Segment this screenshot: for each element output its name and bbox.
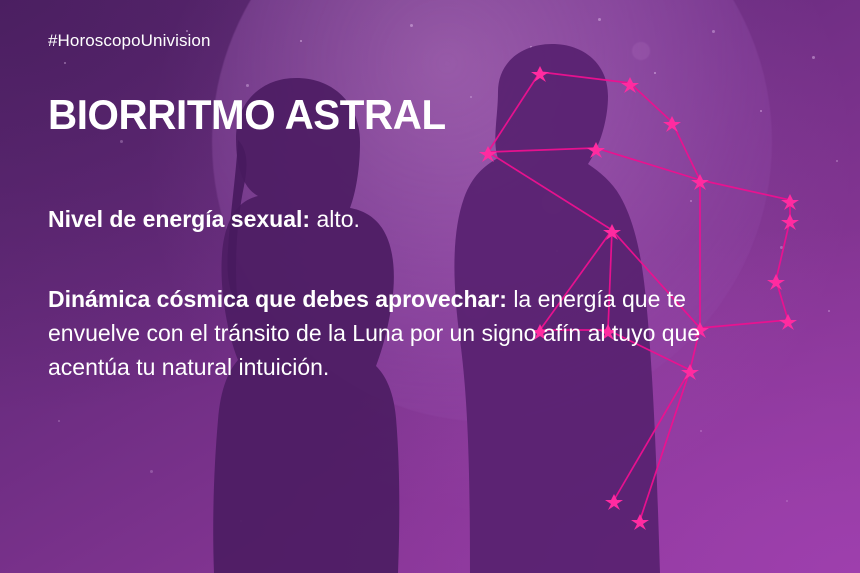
text-content: #HoroscopoUnivision BIORRITMO ASTRAL Niv… <box>48 0 818 573</box>
cosmic-dynamic-paragraph: Dinámica cósmica que debes aprovechar: l… <box>48 282 783 384</box>
hashtag-label: #HoroscopoUnivision <box>48 31 211 51</box>
cosmic-dynamic-label: Dinámica cósmica que debes aprovechar: <box>48 286 507 312</box>
energy-level-value: alto. <box>316 206 359 232</box>
page-title: BIORRITMO ASTRAL <box>48 93 446 137</box>
energy-level-line: Nivel de energía sexual: alto. <box>48 204 360 234</box>
horoscope-card: #HoroscopoUnivision BIORRITMO ASTRAL Niv… <box>0 0 860 573</box>
energy-level-label: Nivel de energía sexual: <box>48 206 310 232</box>
